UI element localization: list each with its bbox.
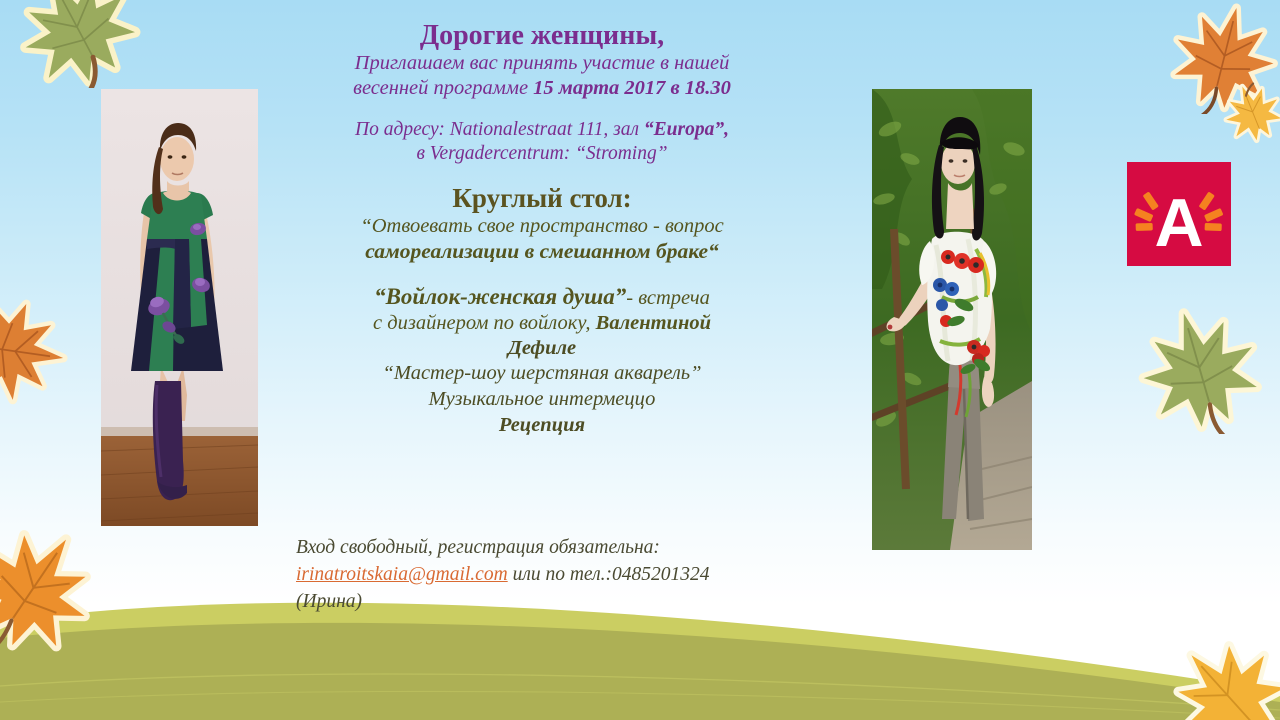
footer-contact-name: (Ирина) (296, 589, 796, 616)
antwerp-city-logo: A (1127, 162, 1231, 266)
invitation-text-block: Дорогие женщины, Приглашаем вас принять … (288, 20, 796, 438)
slide-canvas: A Дорогие женщины, Приглашаем вас принят… (0, 0, 1280, 720)
program-intermezzo: Музыкальное интермеццо (429, 388, 656, 410)
address-prefix: По адресу: Nationalestraat 111, зал (355, 119, 639, 140)
round-table-heading: Круглый стол: (288, 183, 796, 214)
spacer (288, 265, 796, 283)
meeting-title: “Войлок-женская душа” (374, 284, 626, 309)
invitation-heading: Дорогие женщины, (288, 20, 796, 51)
address-hall: “Europa”, (644, 119, 729, 140)
invite-line-2-prefix: весенней программе (353, 77, 528, 99)
address-line-2: в Vergadercentrum: “Stroming” (416, 143, 667, 164)
invitation-intro: Приглашаем вас принять участие в нашей в… (288, 51, 796, 99)
leaf-orange-midleft-icon (0, 296, 68, 406)
invite-date: 15 марта 2017 в 18.30 (533, 77, 731, 99)
program-list: Дефиле “Мастер-шоу шерстяная акварель” М… (288, 336, 796, 439)
phone-number: 0485201324 (612, 564, 710, 585)
invitation-address: По адресу: Nationalestraat 111, зал “Eur… (288, 118, 796, 166)
meeting-announcement: “Войлок-женская душа”- встреча с дизайне… (288, 283, 796, 336)
meeting-suffix: - встреча (626, 287, 710, 309)
footer-contact-line: irinatroitskaia@gmail.com или по тел.:04… (296, 562, 796, 589)
phone-prefix: или по тел.: (513, 564, 612, 585)
registration-footer: Вход свободный, регистрация обязательна:… (296, 535, 796, 616)
spacer (288, 100, 796, 118)
photo-right-illustration (872, 89, 1032, 550)
logo-letter: A (1154, 185, 1203, 261)
program-masterclass: “Мастер-шоу шерстяная акварель” (383, 362, 702, 384)
invite-line-1: Приглашаем вас принять участие в нашей (355, 52, 730, 74)
footer-line-1: Вход свободный, регистрация обязательна: (296, 535, 796, 562)
photo-left-illustration (101, 89, 258, 526)
program-defile: Дефиле (508, 337, 576, 359)
email-link[interactable]: irinatroitskaia@gmail.com (296, 564, 508, 585)
meeting-line-2-prefix: с дизайнером по войлоку, (373, 312, 591, 334)
leaf-yellow-topright-small-icon (1222, 82, 1280, 144)
program-reception: Рецепция (499, 414, 585, 436)
photo-model-felt-dress (101, 89, 258, 526)
leaf-green-topleft-icon (8, 0, 146, 88)
leaf-green-midright-icon (1136, 306, 1264, 434)
leaf-yellow-bottomright-icon (1168, 636, 1280, 720)
photo-model-felt-blouse (872, 89, 1032, 550)
meeting-designer: Валентиной (596, 312, 711, 334)
spacer (288, 165, 796, 183)
round-table-line-1: “Отвоевать свое пространство - вопрос (360, 215, 723, 237)
round-table-line-2: самореализации в смешанном браке“ (365, 239, 719, 263)
round-table-topic: “Отвоевать свое пространство - вопрос са… (288, 214, 796, 264)
leaf-orange-bottomleft-icon (0, 524, 98, 656)
logo-svg: A (1127, 162, 1231, 266)
